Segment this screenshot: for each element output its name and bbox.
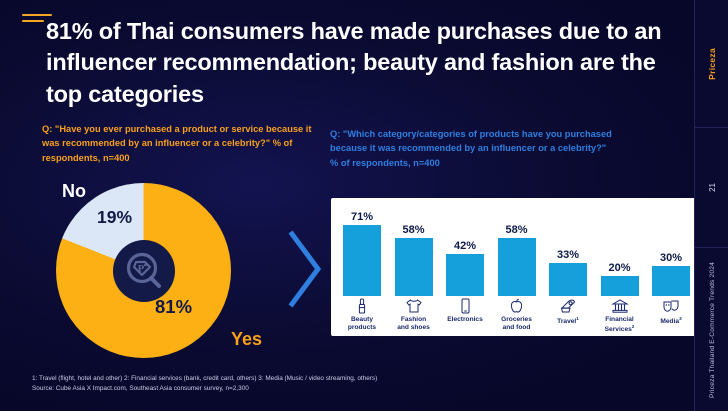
headline-highlight: 81% of Thai consumers bbox=[46, 18, 304, 44]
bar-value-label: 42% bbox=[454, 240, 476, 252]
rail-deck-title: Priceza Thailand E-Commerce Trends 2024 bbox=[695, 248, 728, 411]
lipstick-icon bbox=[357, 298, 367, 314]
chevron-right-icon bbox=[288, 228, 324, 310]
footnote-line-1: 1: Travel (flight, hotel and other) 2: F… bbox=[32, 374, 652, 384]
category-label: Beautyproducts bbox=[348, 316, 376, 332]
category-groceries-and-food: Groceriesand food bbox=[496, 298, 538, 334]
bar-value-label: 71% bbox=[351, 211, 373, 223]
bar-rect-financial bbox=[601, 276, 639, 296]
category-label: Media3 bbox=[660, 316, 681, 326]
rail-page-number: 21 bbox=[695, 128, 728, 248]
bar-column: 71% bbox=[341, 211, 383, 296]
apple-icon bbox=[509, 298, 524, 314]
category-electronics: Electronics bbox=[444, 298, 486, 334]
category-label: Fashionand shoes bbox=[397, 316, 430, 332]
pie-value-no: 19% bbox=[97, 207, 132, 228]
deck-title: Priceza Thailand E-Commerce Trends 2024 bbox=[709, 262, 716, 398]
bar-chart-panel: 71% 58% 42% 58% 33% 20% bbox=[331, 198, 702, 336]
svg-text:P: P bbox=[137, 263, 144, 275]
smartphone-icon bbox=[460, 298, 471, 314]
bar-rect-travel bbox=[549, 263, 587, 296]
category-beauty-products: Beautyproducts bbox=[341, 298, 383, 334]
bar-column: 42% bbox=[444, 240, 486, 296]
magnifier-price-tag-icon: P bbox=[121, 248, 167, 294]
category-media: Media3 bbox=[650, 298, 692, 334]
right-rail: Priceza 21 Priceza Thailand E-Commerce T… bbox=[694, 0, 728, 411]
footnote-line-2: Source: Cube Asia X Impact.com, Southeas… bbox=[32, 384, 652, 394]
bar-value-label: 20% bbox=[608, 262, 630, 274]
bar-value-label: 33% bbox=[557, 249, 579, 261]
bar-rect-groceries bbox=[498, 238, 536, 296]
bar-column: 33% bbox=[547, 249, 589, 296]
slide-canvas: 81% of Thai consumers have made purchase… bbox=[0, 0, 728, 411]
category-label: Groceriesand food bbox=[501, 316, 532, 332]
category-financial-services: FinancialServices2 bbox=[599, 298, 641, 334]
page-number: 21 bbox=[708, 183, 717, 192]
travel-icon bbox=[559, 298, 577, 314]
bar-series: 71% 58% 42% 58% 33% 20% bbox=[341, 206, 692, 296]
category-fashion-and-shoes: Fashionand shoes bbox=[393, 298, 435, 334]
category-label: Electronics bbox=[447, 316, 483, 324]
tshirt-icon bbox=[405, 298, 423, 314]
page-title: 81% of Thai consumers have made purchase… bbox=[46, 16, 686, 110]
footnotes: 1: Travel (flight, hotel and other) 2: F… bbox=[32, 374, 652, 394]
pie-value-yes: 81% bbox=[155, 296, 192, 318]
pie-label-no: No bbox=[62, 181, 86, 202]
question-left: Q: "Have you ever purchased a product or… bbox=[42, 122, 314, 165]
bar-rect-electronics bbox=[446, 254, 484, 296]
category-axis: Beautyproducts Fashionand shoes Electron… bbox=[341, 298, 692, 334]
bar-value-label: 58% bbox=[505, 224, 527, 236]
question-right: Q: "Which category/categories of product… bbox=[330, 127, 615, 170]
category-label: FinancialServices2 bbox=[605, 316, 635, 335]
bar-column: 30% bbox=[650, 252, 692, 296]
category-travel: Travel1 bbox=[547, 298, 589, 334]
bar-rect-fashion bbox=[395, 238, 433, 296]
bar-column: 58% bbox=[393, 224, 435, 296]
bar-column: 20% bbox=[599, 262, 641, 296]
pie-chart-yes-no: P bbox=[56, 183, 231, 358]
category-label: Travel1 bbox=[557, 316, 579, 326]
bar-value-label: 30% bbox=[660, 252, 682, 264]
pie-label-yes: Yes bbox=[231, 329, 262, 350]
bar-value-label: 58% bbox=[402, 224, 424, 236]
bank-icon bbox=[611, 298, 629, 314]
brand-label: Priceza bbox=[707, 48, 717, 80]
bar-column: 58% bbox=[496, 224, 538, 296]
media-masks-icon bbox=[662, 298, 680, 314]
bar-rect-beauty bbox=[343, 225, 381, 296]
rail-brand: Priceza bbox=[695, 0, 728, 128]
brand-logo-hub: P bbox=[113, 240, 175, 302]
bar-rect-media bbox=[652, 266, 690, 296]
